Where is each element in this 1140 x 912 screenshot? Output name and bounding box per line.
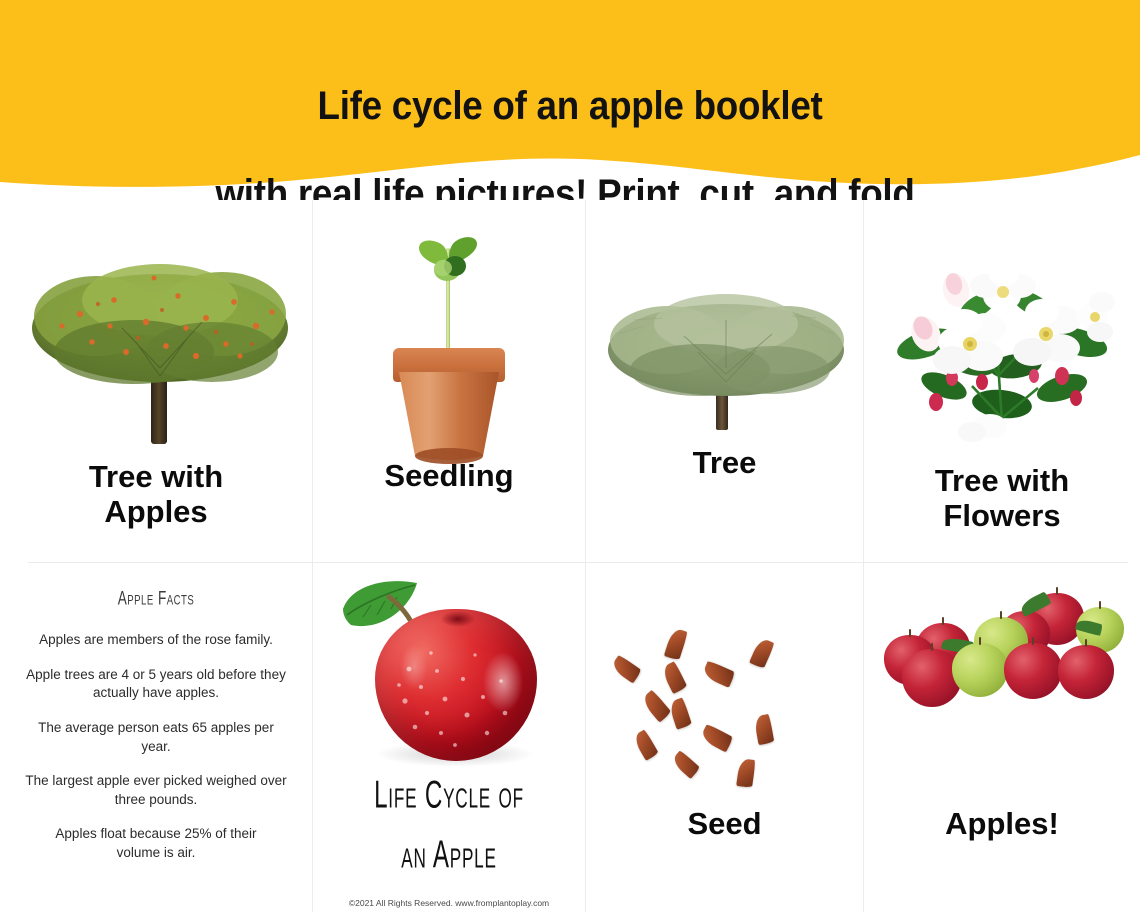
page-title: Life cycle of an apple booklet with real… — [46, 40, 1095, 200]
life-cycle-cover-line1: Life Cycle of — [343, 765, 555, 825]
seed-shape — [610, 654, 642, 683]
apple-fact-item: The average person eats 65 apples per ye… — [18, 719, 294, 756]
tree-with-flowers-image — [864, 200, 1140, 462]
panel-seed[interactable]: Seed — [586, 563, 863, 912]
seed-shape — [668, 697, 692, 730]
life-cycle-cover-title: Life Cycle of an Apple — [343, 765, 555, 885]
seed-shape — [640, 689, 672, 722]
panel-label-tree-with-flowers: Tree with Flowers — [864, 464, 1140, 533]
apple-facts-heading: Apple Facts — [46, 588, 267, 610]
apple-fact-item: The largest apple ever picked weighed ov… — [18, 772, 294, 809]
booklet-grid: Tree with Apples — [0, 200, 1140, 912]
seed-shape — [749, 637, 775, 669]
seed-shape — [736, 758, 756, 788]
panel-label-tree-with-apples: Tree with Apples — [0, 460, 312, 529]
panel-life-cycle-cover[interactable]: Life Cycle of an Apple — [313, 563, 585, 912]
panel-apples[interactable]: Apples! — [864, 563, 1140, 912]
tree-image — [586, 200, 863, 450]
red-apple-image — [313, 563, 585, 781]
panel-tree-with-flowers[interactable]: Tree with Flowers — [864, 200, 1140, 562]
page-title-line1: Life cycle of an apple booklet — [46, 84, 1095, 128]
panel-seedling[interactable]: Seedling — [313, 200, 585, 562]
seed-shape — [754, 714, 775, 745]
seed-shape — [670, 750, 700, 779]
panel-apple-facts[interactable]: Apple Facts Apples are members of the ro… — [0, 563, 312, 912]
apple-fact-item: Apples are members of the rose family. — [18, 631, 294, 650]
seedling-image — [313, 200, 585, 455]
seed-shape — [701, 660, 735, 688]
apple-fact-item: Apples float because 25% of their volume… — [18, 825, 294, 862]
panel-tree-with-apples[interactable]: Tree with Apples — [0, 200, 312, 562]
poster-page: Life cycle of an apple booklet with real… — [0, 0, 1140, 912]
header-banner: Life cycle of an apple booklet with real… — [0, 0, 1140, 200]
copyright-notice: ©2021 All Rights Reserved. www.fromplant… — [313, 898, 585, 908]
tree-with-apples-image — [0, 200, 312, 450]
life-cycle-cover-line2: an Apple — [343, 825, 555, 885]
seed-shape — [632, 729, 659, 761]
apple-fact-item: Apple trees are 4 or 5 years old before … — [18, 666, 294, 703]
apple-seeds-image — [586, 563, 863, 813]
apples-pile-image — [864, 563, 1140, 813]
page-title-line2: with real life pictures! Print, cut, and… — [46, 172, 1095, 200]
panel-label-tree: Tree — [586, 446, 863, 481]
seed-shape — [664, 627, 688, 660]
seed-shape — [660, 661, 687, 694]
apple-facts-list: Apples are members of the rose family. A… — [18, 631, 294, 863]
seed-shape — [699, 723, 733, 752]
panel-tree[interactable]: Tree — [586, 200, 863, 562]
